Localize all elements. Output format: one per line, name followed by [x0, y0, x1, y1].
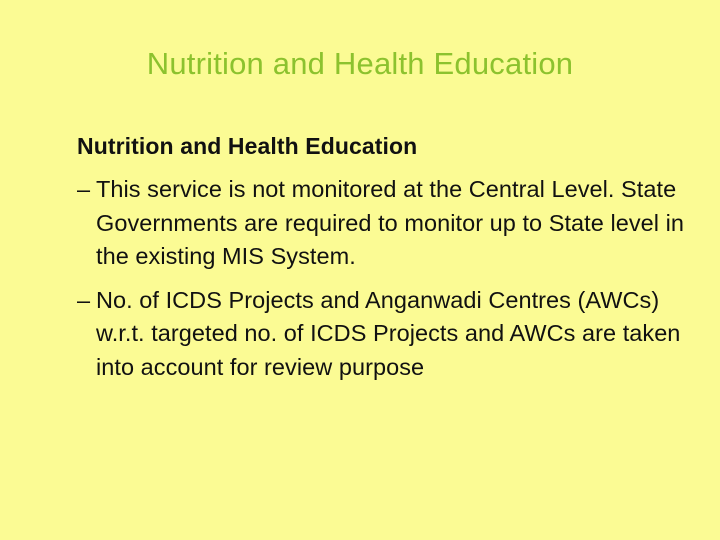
body-heading: Nutrition and Health Education [77, 131, 693, 162]
slide-canvas: Nutrition and Health Education Nutrition… [0, 0, 720, 540]
bullet-item: – No. of ICDS Projects and Anganwadi Cen… [77, 284, 693, 385]
bullet-dash-icon: – [77, 173, 90, 207]
bullet-item: – This service is not monitored at the C… [77, 173, 693, 274]
slide-title: Nutrition and Health Education [0, 45, 720, 83]
slide-body: Nutrition and Health Education – This se… [77, 131, 693, 384]
bullet-text: This service is not monitored at the Cen… [96, 173, 693, 274]
bullet-text: No. of ICDS Projects and Anganwadi Centr… [96, 284, 693, 385]
bullet-dash-icon: – [77, 284, 90, 318]
